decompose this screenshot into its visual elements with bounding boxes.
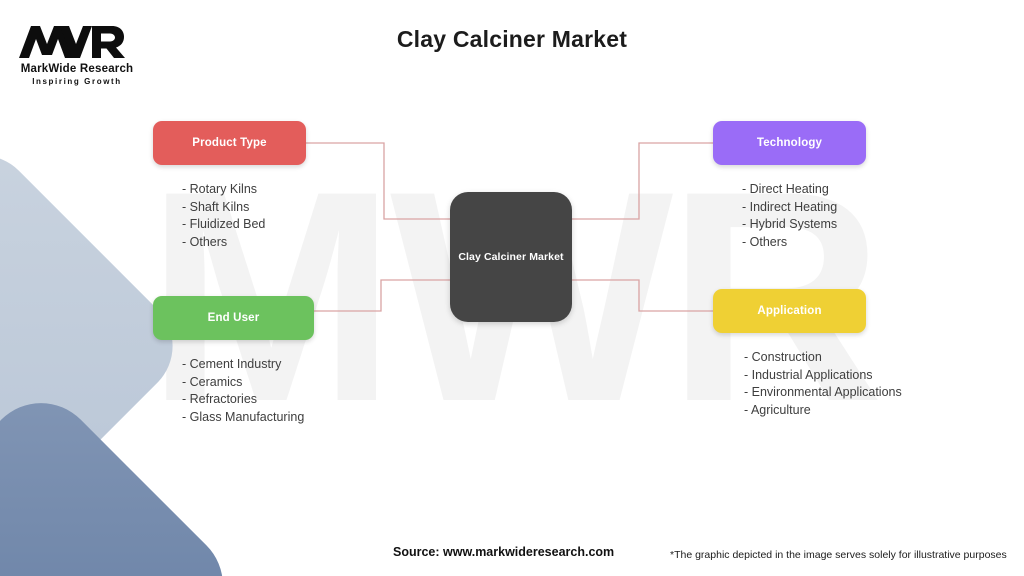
connector-end-user	[314, 280, 450, 311]
connector-technology	[572, 143, 713, 219]
list-item: - Fluidized Bed	[182, 216, 306, 234]
branch-header-application[interactable]: Application	[713, 289, 866, 333]
branch-label-product-type: Product Type	[192, 137, 266, 149]
list-item: - Direct Heating	[742, 181, 866, 199]
branch-product-type: Product Type - Rotary Kilns - Shaft Kiln…	[153, 121, 306, 267]
logo-company-name: MarkWide Research	[17, 63, 137, 76]
branch-label-technology: Technology	[757, 137, 822, 149]
branch-list-application: - Construction - Industrial Applications…	[713, 349, 866, 419]
list-item: - Agriculture	[744, 402, 866, 420]
list-item: - Refractories	[182, 391, 314, 409]
center-node-label: Clay Calciner Market	[458, 251, 563, 264]
list-item: - Cement Industry	[182, 356, 314, 374]
list-item: - Others	[182, 234, 306, 252]
branch-label-end-user: End User	[208, 312, 260, 324]
logo-tagline: Inspiring Growth	[17, 76, 137, 87]
list-item: - Ceramics	[182, 374, 314, 392]
center-node: Clay Calciner Market	[450, 192, 572, 322]
page-title: Clay Calciner Market	[0, 26, 1024, 53]
branch-label-application: Application	[757, 305, 821, 317]
list-item: - Shaft Kilns	[182, 199, 306, 217]
list-item: - Construction	[744, 349, 866, 367]
list-item: - Rotary Kilns	[182, 181, 306, 199]
branch-header-end-user[interactable]: End User	[153, 296, 314, 340]
list-item: - Others	[742, 234, 866, 252]
branch-application: Application - Construction - Industrial …	[713, 289, 866, 435]
branch-list-technology: - Direct Heating - Indirect Heating - Hy…	[713, 181, 866, 251]
branch-technology: Technology - Direct Heating - Indirect H…	[713, 121, 866, 267]
list-item: - Industrial Applications	[744, 367, 866, 385]
branch-header-product-type[interactable]: Product Type	[153, 121, 306, 165]
list-item: - Indirect Heating	[742, 199, 866, 217]
connector-application	[572, 280, 713, 311]
list-item: - Glass Manufacturing	[182, 409, 314, 427]
branch-list-product-type: - Rotary Kilns - Shaft Kilns - Fluidized…	[153, 181, 306, 251]
list-item: - Hybrid Systems	[742, 216, 866, 234]
footer-disclaimer: *The graphic depicted in the image serve…	[670, 549, 1007, 561]
footer-source: Source: www.markwideresearch.com	[393, 545, 614, 559]
branch-list-end-user: - Cement Industry - Ceramics - Refractor…	[153, 356, 314, 426]
connector-product-type	[306, 143, 450, 219]
list-item: - Environmental Applications	[744, 384, 866, 402]
branch-header-technology[interactable]: Technology	[713, 121, 866, 165]
branch-end-user: End User - Cement Industry - Ceramics - …	[153, 296, 314, 442]
diagram-canvas: MWR MarkWide Research Inspiring Growth C…	[0, 0, 1024, 576]
